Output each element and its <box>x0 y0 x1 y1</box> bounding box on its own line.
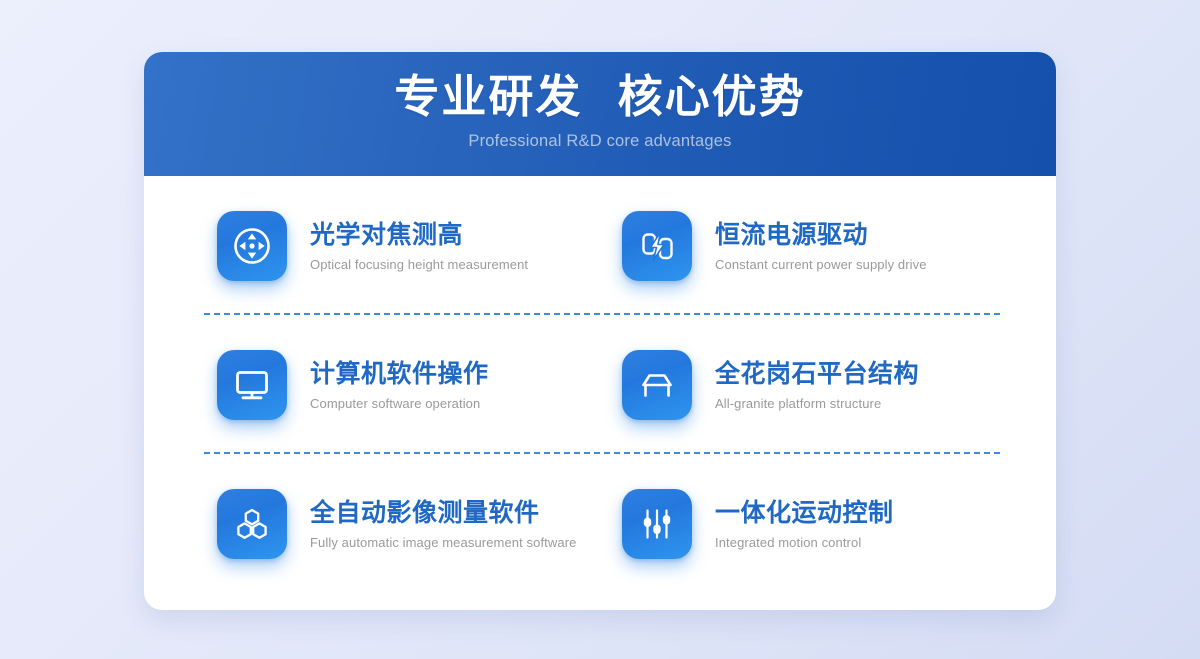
desktop-monitor-icon <box>217 350 287 420</box>
feature-row: 全自动影像测量软件 Fully automatic image measurem… <box>144 454 1056 593</box>
feature-item-granite-platform[interactable]: 全花岗石平台结构 All-granite platform structure <box>599 315 1056 454</box>
feature-text: 全自动影像测量软件 Fully automatic image measurem… <box>310 498 576 550</box>
focus-crosshair-icon <box>217 211 287 281</box>
feature-item-image-measurement[interactable]: 全自动影像测量软件 Fully automatic image measurem… <box>144 454 599 593</box>
feature-title-cn: 恒流电源驱动 <box>715 220 927 250</box>
battery-charge-icon <box>622 211 692 281</box>
banner-header: 专业研发 核心优势 Professional R&D core advantag… <box>144 52 1056 176</box>
feature-text: 全花岗石平台结构 All-granite platform structure <box>715 359 919 411</box>
feature-text: 一体化运动控制 Integrated motion control <box>715 498 894 550</box>
feature-title-cn: 光学对焦测高 <box>310 220 528 250</box>
feature-row: 计算机软件操作 Computer software operation 全花岗石… <box>144 315 1056 454</box>
features-grid: 光学对焦测高 Optical focusing height measureme… <box>144 176 1056 593</box>
feature-item-motion-control[interactable]: 一体化运动控制 Integrated motion control <box>599 454 1056 593</box>
feature-title-cn: 计算机软件操作 <box>310 359 489 389</box>
advantages-card: 专业研发 核心优势 Professional R&D core advantag… <box>144 52 1056 610</box>
feature-text: 计算机软件操作 Computer software operation <box>310 359 489 411</box>
feature-row: 光学对焦测高 Optical focusing height measureme… <box>144 176 1056 315</box>
page-subtitle: Professional R&D core advantages <box>468 132 731 151</box>
feature-text: 恒流电源驱动 Constant current power supply dri… <box>715 220 927 272</box>
feature-item-optical-focusing[interactable]: 光学对焦测高 Optical focusing height measureme… <box>144 176 599 315</box>
sliders-control-icon <box>622 489 692 559</box>
platform-table-icon <box>622 350 692 420</box>
feature-title-cn: 一体化运动控制 <box>715 498 894 528</box>
feature-text: 光学对焦测高 Optical focusing height measureme… <box>310 220 528 272</box>
feature-title-en: Fully automatic image measurement softwa… <box>310 535 576 550</box>
page-title: 专业研发 核心优势 <box>394 68 805 126</box>
feature-title-en: Integrated motion control <box>715 535 894 550</box>
feature-title-en: Optical focusing height measurement <box>310 257 528 272</box>
feature-title-en: Constant current power supply drive <box>715 257 927 272</box>
feature-title-cn: 全自动影像测量软件 <box>310 498 576 528</box>
feature-item-computer-software[interactable]: 计算机软件操作 Computer software operation <box>144 315 599 454</box>
feature-title-cn: 全花岗石平台结构 <box>715 359 919 389</box>
feature-title-en: All-granite platform structure <box>715 396 919 411</box>
hexagon-cluster-icon <box>217 489 287 559</box>
feature-title-en: Computer software operation <box>310 396 489 411</box>
feature-item-constant-current[interactable]: 恒流电源驱动 Constant current power supply dri… <box>599 176 1056 315</box>
